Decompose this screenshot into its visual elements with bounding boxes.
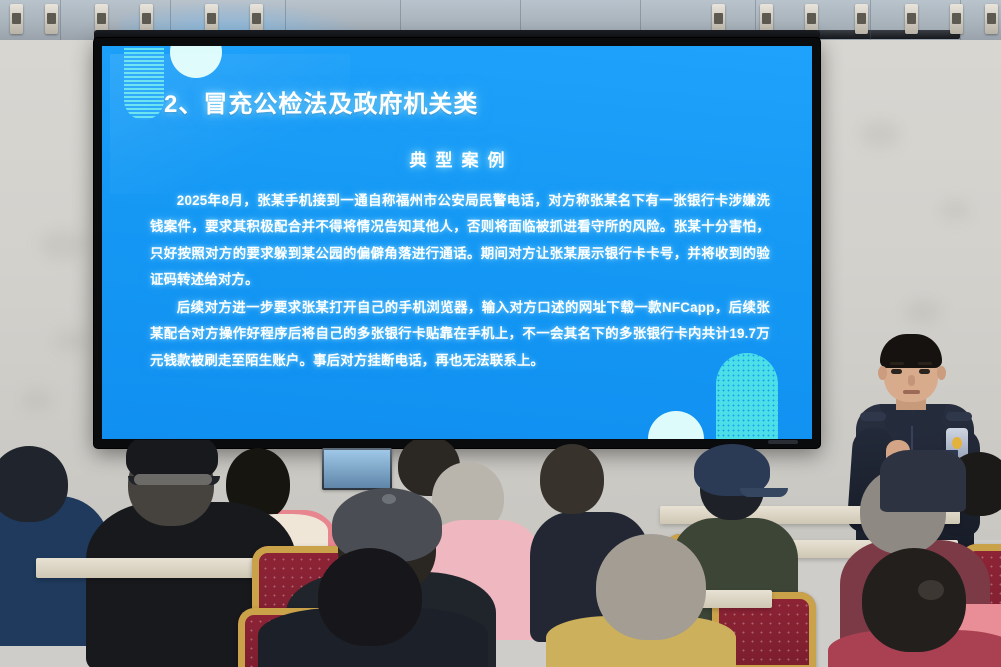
attendee-torso — [880, 450, 966, 512]
officer-eye-left — [891, 369, 902, 374]
cap-strap — [134, 474, 212, 485]
slide-canvas: 2、冒充公检法及政府机关类 典型案例 2025年8月，张某手机接到一通自称福州市… — [102, 46, 812, 439]
slide-subtitle: 典型案例 — [102, 146, 812, 171]
lecture-hall-scene: 2、冒充公检法及政府机关类 典型案例 2025年8月，张某手机接到一通自称福州市… — [0, 0, 1001, 667]
attendee-head — [318, 548, 422, 646]
wall-mark — [860, 120, 900, 148]
ceiling-track-light-icon — [905, 4, 918, 34]
ceiling-seam — [870, 0, 871, 40]
cap-brim — [740, 488, 788, 497]
open-laptop — [322, 448, 392, 490]
wall-mark — [40, 230, 86, 260]
ceiling-track-light-icon — [10, 4, 23, 34]
slide-paragraph: 后续对方进一步要求张某打开自己的手机浏览器，输入对方口述的网址下载一款NFCap… — [150, 295, 770, 374]
ceiling-seam — [60, 0, 61, 40]
slide-title: 2、冒充公检法及政府机关类 — [164, 84, 478, 119]
audience-area — [0, 440, 1001, 667]
officer-brow-left — [890, 362, 904, 365]
slide-body-text: 2025年8月，张某手机接到一通自称福州市公安局民警电话，对方称张某名下有一张银… — [150, 188, 770, 376]
officer-ear-right — [937, 366, 946, 380]
officer-epaulet-left — [860, 412, 886, 421]
attendee-table — [36, 558, 256, 578]
attendee-head — [0, 446, 68, 522]
officer-ear-left — [878, 366, 887, 380]
ceiling-track-light-icon — [950, 4, 963, 34]
striped-pill-shape-icon — [124, 46, 164, 120]
light-circle-shape-icon — [170, 46, 222, 78]
hair-tie — [918, 580, 944, 600]
ceiling-track-light-icon — [45, 4, 58, 34]
ceiling-track-light-icon — [985, 4, 998, 34]
laptop-screen — [324, 450, 390, 488]
attendee-head — [540, 444, 604, 514]
officer-mouth — [903, 390, 920, 394]
attendee-head — [862, 548, 966, 652]
slide-paragraph: 2025年8月，张某手机接到一通自称福州市公安局民警电话，对方称张某名下有一张银… — [150, 188, 770, 293]
wall-mark — [22, 390, 52, 410]
wall-mark — [940, 200, 970, 220]
officer-epaulet-right — [946, 412, 972, 421]
attendee-head — [596, 534, 706, 640]
ceiling-track-light-icon — [855, 4, 868, 34]
officer-brow-right — [918, 362, 932, 365]
wall-mark — [905, 300, 941, 324]
officer-eye-right — [919, 369, 930, 374]
cap-button — [382, 494, 396, 504]
officer-nose — [908, 375, 915, 386]
presentation-screen[interactable]: 2、冒充公检法及政府机关类 典型案例 2025年8月，张某手机接到一通自称福州市… — [94, 38, 820, 448]
light-dome-shape-icon — [648, 411, 704, 439]
wall-mark — [55, 330, 89, 352]
